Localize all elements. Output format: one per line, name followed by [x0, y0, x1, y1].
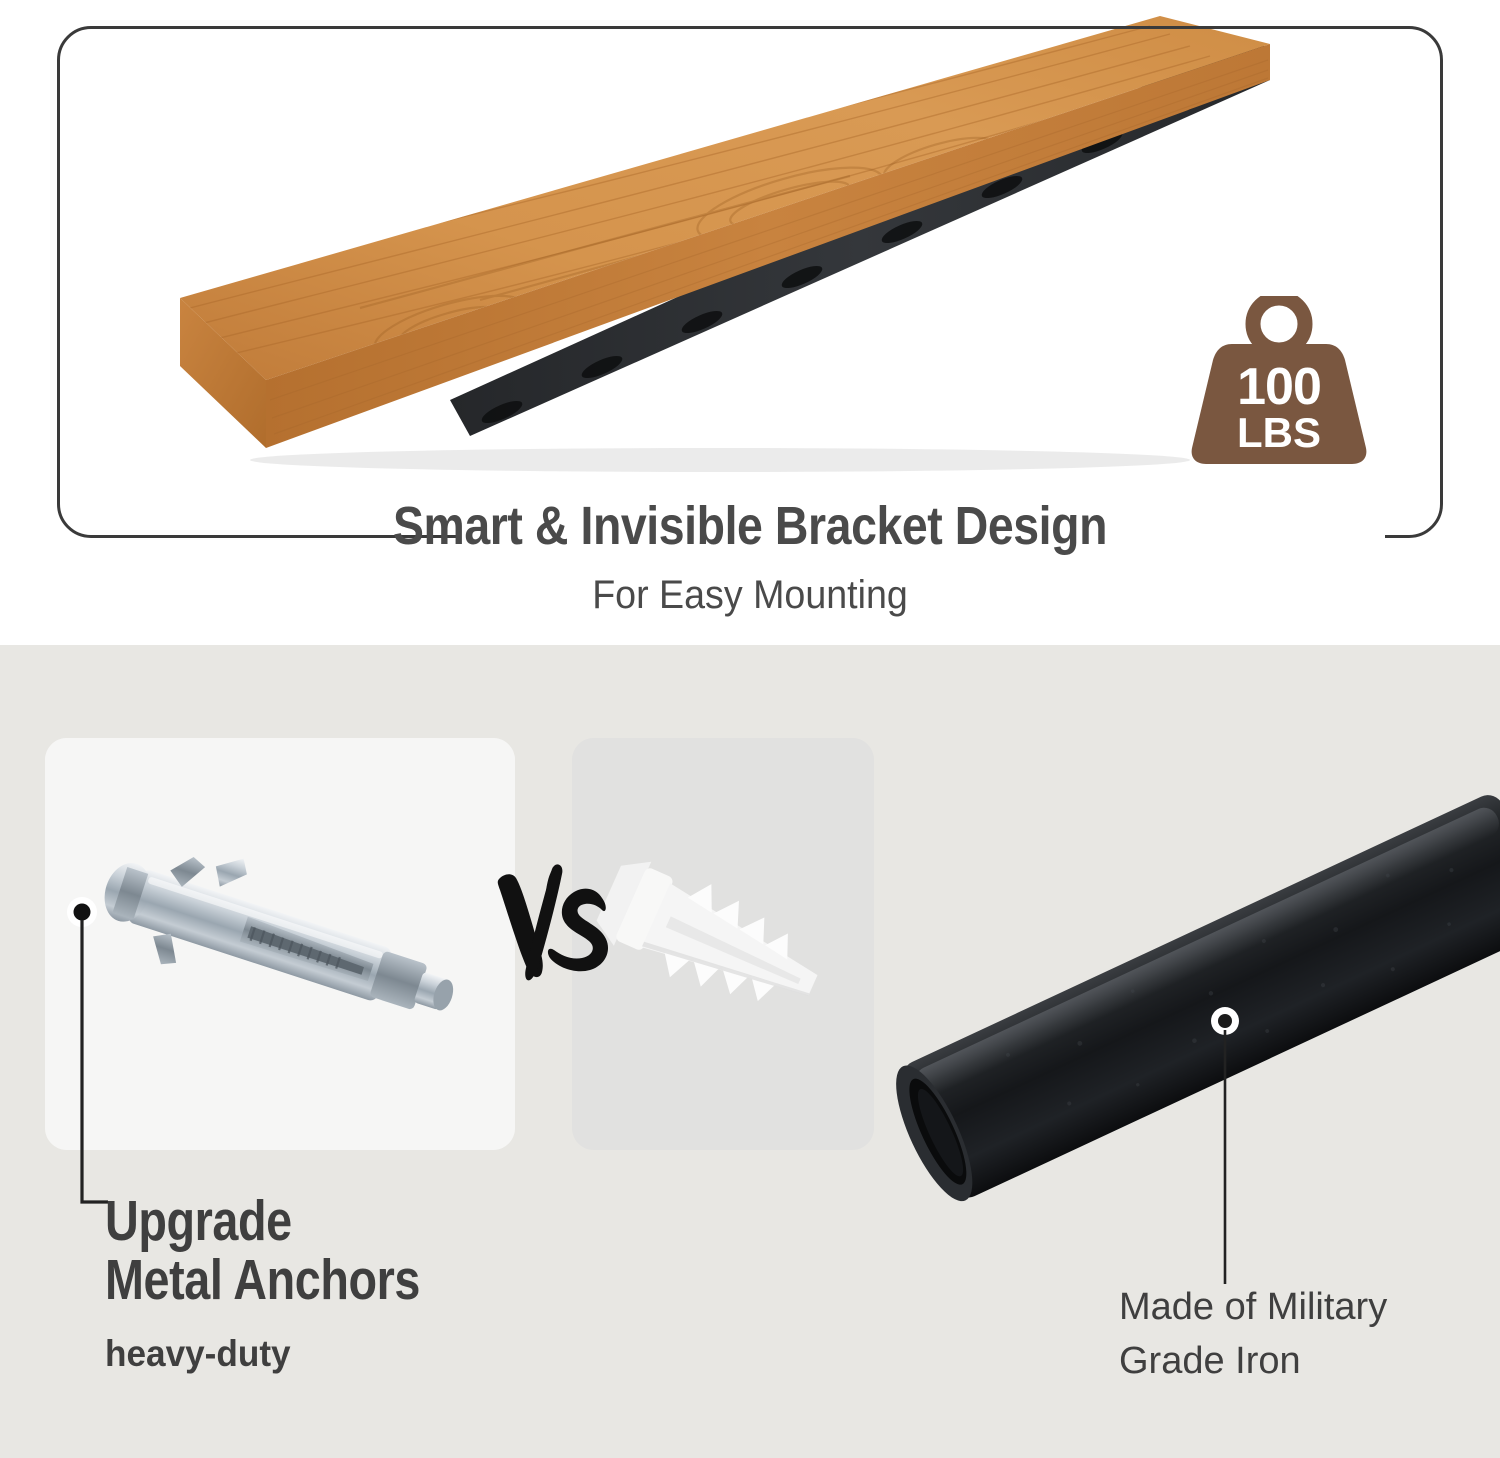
- versus-mark: [492, 860, 612, 985]
- callout-metal-anchor: [52, 896, 112, 1226]
- vs-icon: [498, 864, 608, 980]
- wooden-shelf-illustration: [150, 8, 1270, 478]
- upgrade-line-2: Metal Anchors: [105, 1251, 613, 1310]
- plastic-anchor-panel: [572, 738, 874, 1150]
- upgrade-line-1: Upgrade: [105, 1192, 613, 1251]
- iron-tube-text-block: Made of Military Grade Iron: [1119, 1281, 1499, 1389]
- leader-line: [82, 920, 108, 1202]
- iron-tube-illustration: [868, 745, 1500, 1285]
- callout-iron-tube: [1200, 1006, 1250, 1288]
- metal-anchor-text-block: Upgrade Metal Anchors heavy-duty: [105, 1192, 725, 1375]
- infographic-page: 100 LBS Smart & Invisible Bracket Design…: [0, 0, 1500, 1458]
- bottom-section: Upgrade Metal Anchors heavy-duty Made of…: [0, 645, 1500, 1458]
- military-line-1: Made of Military: [1119, 1281, 1499, 1335]
- metal-anchor-panel: [45, 738, 515, 1150]
- heavy-duty-label: heavy-duty: [105, 1333, 694, 1375]
- ring-dot-marker: [1218, 1014, 1232, 1028]
- military-line-2: Grade Iron: [1119, 1335, 1499, 1389]
- page-title: Smart & Invisible Bracket Design: [105, 495, 1395, 557]
- solid-dot-marker: [74, 904, 91, 921]
- weight-icon: [1192, 298, 1367, 464]
- page-subtitle: For Easy Mounting: [45, 573, 1455, 618]
- shelf-top-face: [180, 16, 1270, 380]
- weight-capacity-badge: 100 LBS: [1186, 296, 1372, 468]
- top-section: 100 LBS Smart & Invisible Bracket Design…: [0, 0, 1500, 645]
